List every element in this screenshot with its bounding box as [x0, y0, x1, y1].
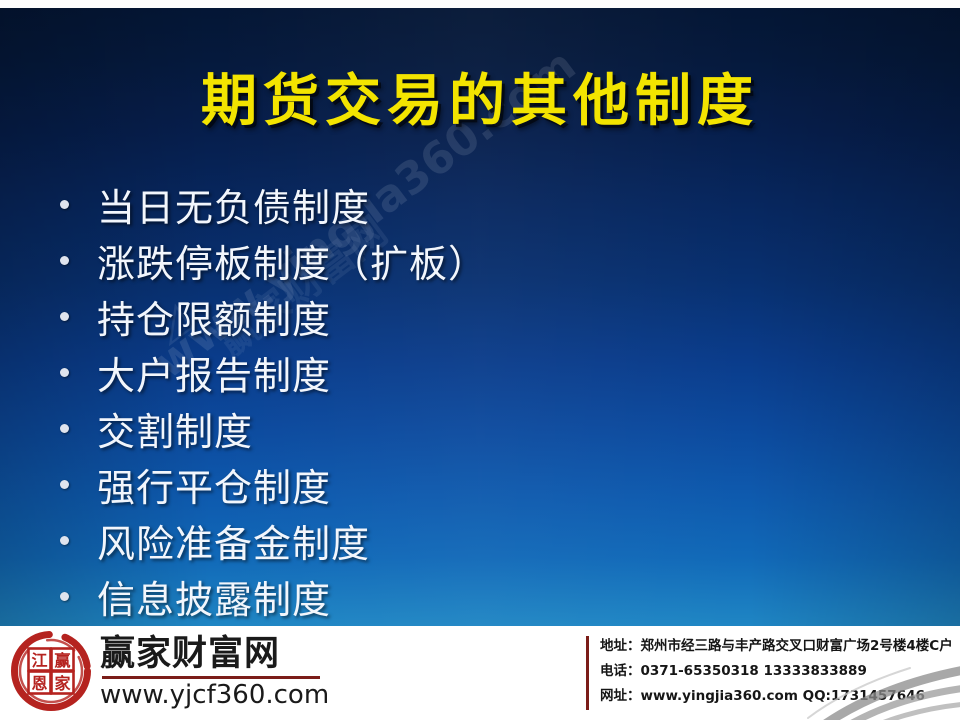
brand-text-block: 赢家财富网 www.yjcf360.com: [100, 632, 329, 710]
contact-phone: 电话：0371-65350318 13333833889: [600, 659, 960, 684]
list-item: 风险准备金制度: [52, 512, 912, 568]
svg-text:家: 家: [54, 674, 71, 693]
bullet-label: 当日无负债制度: [97, 177, 370, 232]
footer-vertical-divider: [586, 636, 589, 710]
list-item: 大户报告制度: [52, 344, 912, 400]
footer-bar: 江 赢 恩 家 赢家财富网 www.yjcf360.com 地址：郑州市经三路与…: [0, 626, 960, 720]
svg-text:恩: 恩: [31, 674, 47, 693]
slide-root: ◿ 赢家财富网 www.yingjia360.com 期货交易的其他制度 当日无…: [0, 0, 960, 720]
list-item: 当日无负债制度: [52, 176, 912, 232]
contact-website[interactable]: 网址：www.yingjia360.com QQ:1731457646: [600, 684, 960, 709]
bullet-dot-icon: [60, 592, 69, 601]
list-item: 信息披露制度: [52, 568, 912, 624]
bullet-dot-icon: [60, 368, 69, 377]
bullet-list: 当日无负债制度 涨跌停板制度（扩板） 持仓限额制度 大户报告制度 交割制度 强行…: [52, 176, 912, 624]
svg-text:赢: 赢: [54, 651, 70, 670]
svg-text:江: 江: [31, 651, 47, 670]
contact-block: 地址：郑州市经三路与丰产路交叉口财富广场2号楼4楼C户 电话：0371-6535…: [600, 634, 960, 709]
bullet-dot-icon: [60, 256, 69, 265]
bullet-label: 持仓限额制度: [97, 289, 331, 344]
bullet-label: 强行平仓制度: [97, 457, 331, 512]
bullet-dot-icon: [60, 312, 69, 321]
bullet-dot-icon: [60, 480, 69, 489]
list-item: 持仓限额制度: [52, 288, 912, 344]
bullet-label: 风险准备金制度: [97, 513, 370, 568]
bullet-dot-icon: [60, 536, 69, 545]
company-seal-logo: 江 赢 恩 家: [8, 628, 94, 714]
brand-divider-rule: [102, 676, 320, 679]
slide-canvas: ◿ 赢家财富网 www.yingjia360.com 期货交易的其他制度 当日无…: [0, 8, 960, 626]
brand-url[interactable]: www.yjcf360.com: [100, 680, 329, 710]
bullet-label: 大户报告制度: [97, 345, 331, 400]
brand-block[interactable]: 江 赢 恩 家 赢家财富网 www.yjcf360.com: [8, 628, 329, 714]
bullet-label: 信息披露制度: [97, 569, 331, 624]
list-item: 强行平仓制度: [52, 456, 912, 512]
list-item: 交割制度: [52, 400, 912, 456]
page-title: 期货交易的其他制度: [0, 56, 960, 137]
bullet-dot-icon: [60, 200, 69, 209]
bullet-label: 交割制度: [97, 401, 253, 456]
bullet-label: 涨跌停板制度（扩板）: [97, 233, 487, 288]
contact-address: 地址：郑州市经三路与丰产路交叉口财富广场2号楼4楼C户: [600, 634, 960, 659]
top-white-strip: [0, 0, 960, 8]
bullet-dot-icon: [60, 424, 69, 433]
brand-name: 赢家财富网: [100, 634, 329, 674]
list-item: 涨跌停板制度（扩板）: [52, 232, 912, 288]
